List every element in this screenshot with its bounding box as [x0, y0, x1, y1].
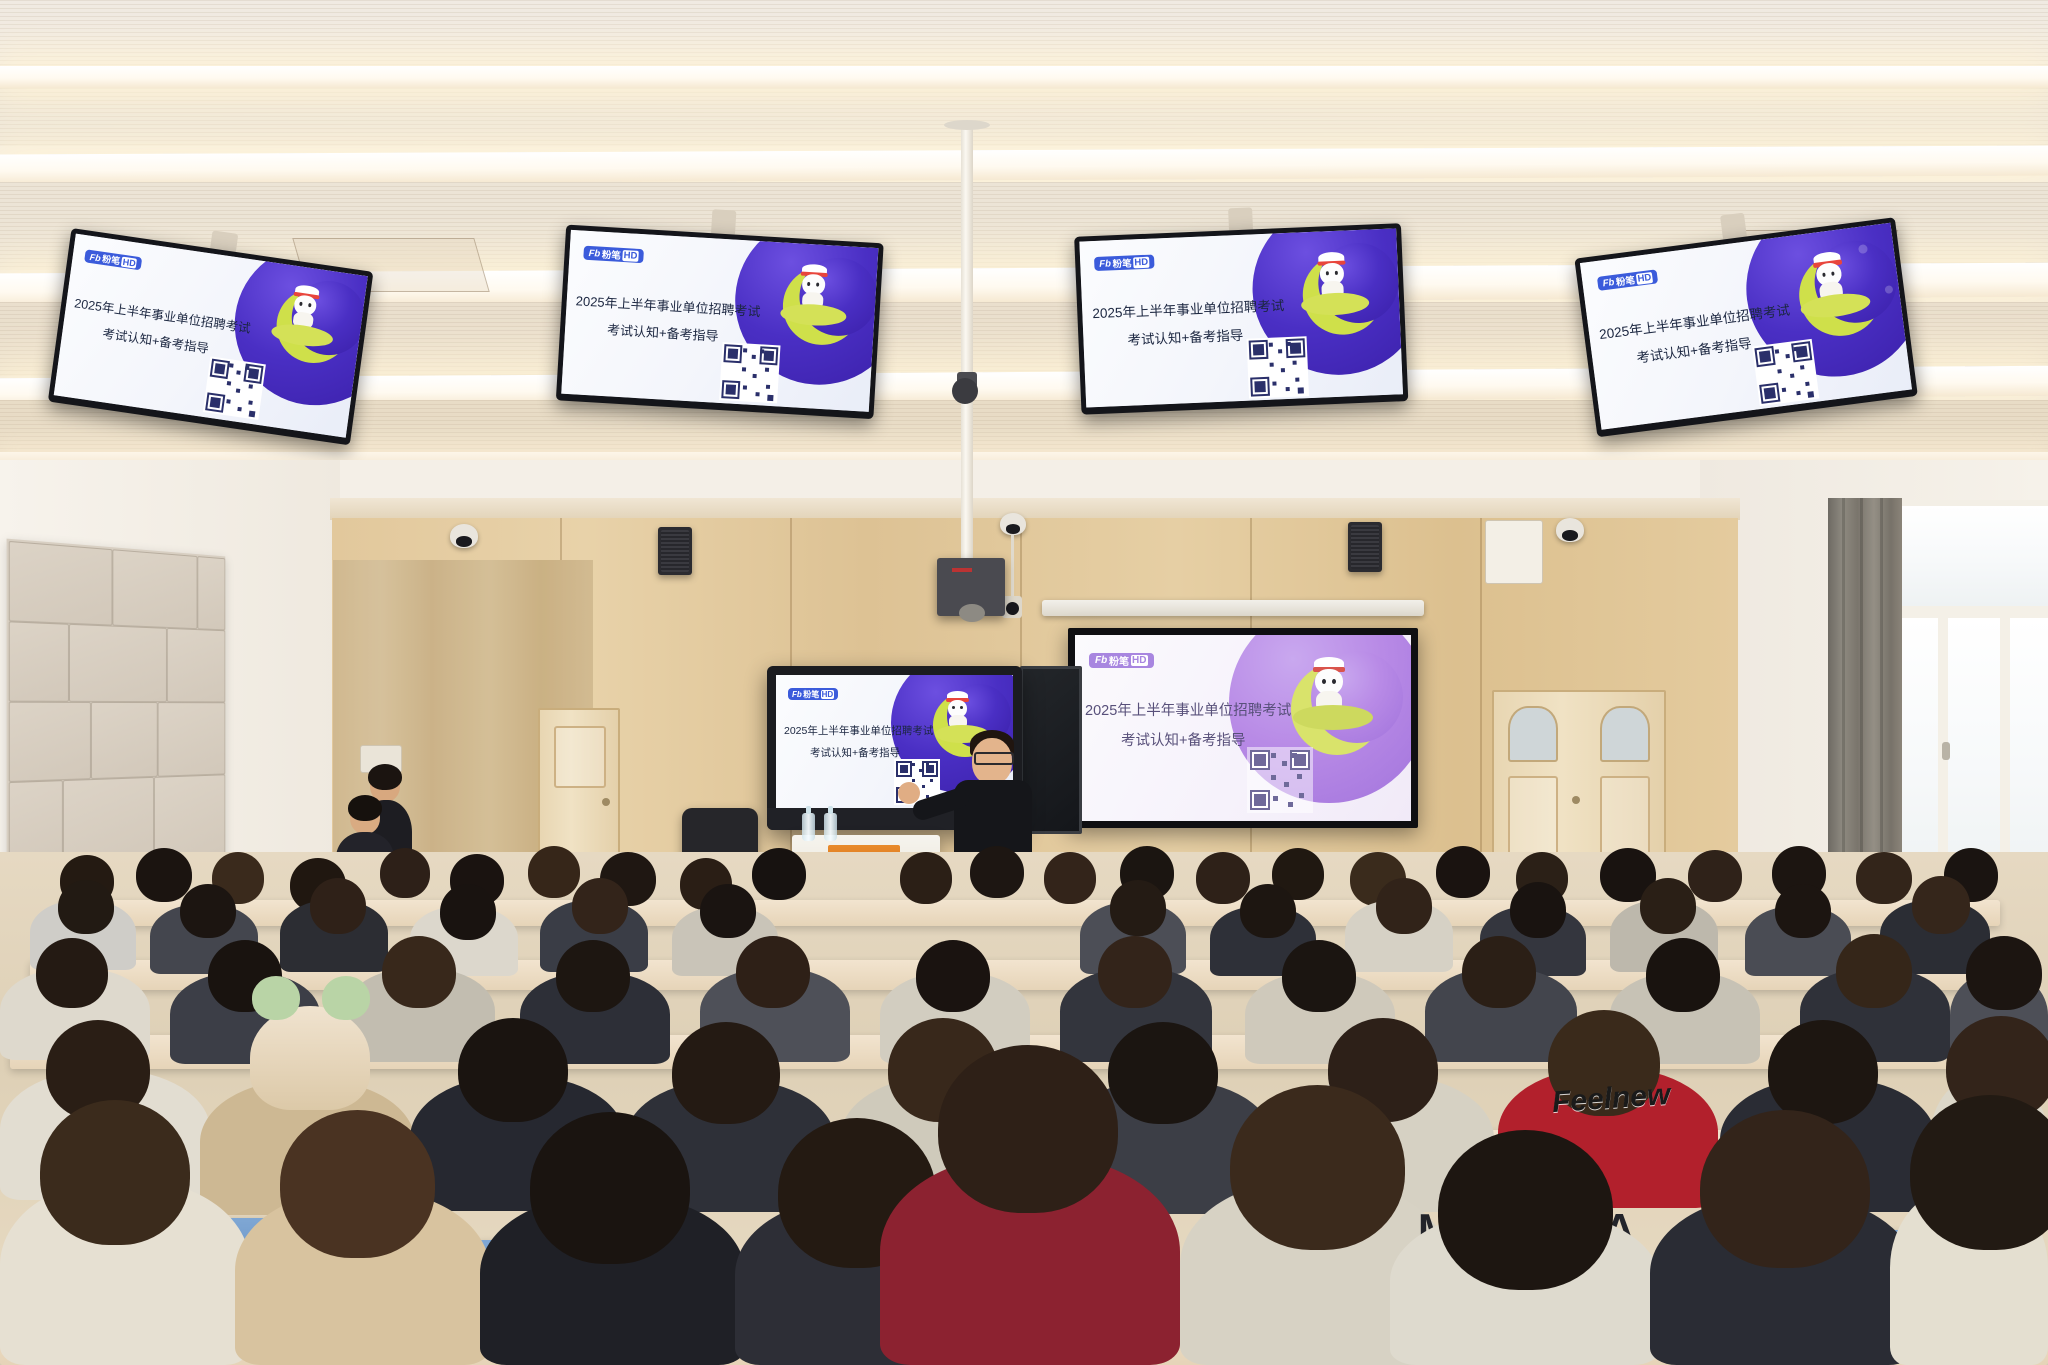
audience-head [736, 936, 810, 1008]
qr-finder-bl [721, 380, 740, 399]
audience-head [310, 878, 366, 934]
dome-camera-stem [1011, 534, 1014, 598]
audience-head [382, 936, 456, 1008]
qr-noise [1805, 382, 1809, 386]
slide-3-logo: Fb 粉笔 HD [1094, 255, 1155, 272]
qr-noise [912, 779, 915, 782]
slide-4-title-line2: 考试认知+备考指导 [1635, 332, 1753, 367]
slide-3-qr [1247, 336, 1309, 398]
qr-noise [227, 381, 232, 386]
qr-finder-tl [896, 761, 912, 777]
ceiling-texture-1 [0, 0, 2048, 70]
qr-noise [245, 366, 250, 371]
slide-2-title-line2: 考试认知+备考指导 [607, 319, 720, 345]
audience-head [458, 1018, 568, 1122]
acoustic-panel [7, 539, 226, 878]
audience-head [1640, 878, 1696, 934]
logo-hd-badge: HD [121, 256, 137, 268]
qr-noise [1298, 387, 1304, 393]
panel-title-line2: 考试认知+备考指导 [810, 745, 900, 760]
wood-seam [1480, 518, 1482, 863]
acoustic-brick [197, 556, 225, 630]
qr-noise [926, 763, 929, 766]
window-mullion-horizontal [1886, 606, 2048, 618]
acoustic-brick [9, 541, 113, 626]
right-door-knob[interactable] [1572, 796, 1580, 804]
qr-noise [1281, 368, 1285, 372]
cctv-camera-left [450, 524, 478, 548]
qr-finder-tl [1250, 750, 1270, 770]
front-wall-cornice [330, 498, 1740, 520]
overhead-monitor-2: Fb 粉笔 HD 2025年上半年事业单位招聘考试 考试认知+备考指导 [556, 225, 884, 420]
curtain-fold [1880, 498, 1883, 880]
cctv-camera-right [1556, 518, 1584, 542]
mascot-eye-left [952, 706, 955, 709]
logo-fb-text: Fb [89, 251, 101, 262]
audience-head [752, 848, 806, 900]
audience-head [1436, 846, 1490, 898]
qr-noise [1272, 382, 1276, 386]
presenter-hand [898, 782, 920, 804]
audience-head [58, 880, 114, 934]
qr-noise [1295, 378, 1299, 382]
right-door-panel-right [1600, 776, 1650, 856]
window-pane-bottom-mid [1948, 618, 2000, 886]
slide-3-title-line2: 考试认知+备考指导 [1127, 324, 1244, 349]
qr-finder-tl [723, 344, 742, 363]
logo-fb-text: Fb [1095, 655, 1107, 666]
slide-1-qr [203, 356, 266, 420]
window-pane-bottom-right [2010, 618, 2048, 886]
mascot-eye-right [1332, 679, 1336, 684]
slide-1-title-line1: 2025年上半年事业单位招聘考试 [73, 292, 252, 336]
right-door-window-left [1508, 706, 1558, 762]
audience-head [380, 848, 430, 898]
logo-hd-badge: HD [622, 249, 639, 261]
wall-cabinet [1485, 520, 1543, 584]
mascot-eye-right [960, 706, 963, 709]
window-latch-handle[interactable] [1942, 742, 1950, 760]
qr-noise [1293, 361, 1297, 365]
qr-finder-tr [922, 761, 938, 777]
panel-logo: Fb 粉笔 HD [788, 688, 838, 700]
qr-noise [1287, 342, 1291, 346]
projector-lens [959, 604, 985, 622]
qr-noise [1299, 793, 1304, 798]
monitor-3-screen: Fb 粉笔 HD 2025年上半年事业单位招聘考试 考试认知+备考指导 [1079, 228, 1403, 407]
projection-screen-roller [1042, 600, 1424, 616]
dome-camera-center [1000, 513, 1026, 535]
audience-head [528, 846, 580, 898]
audience-head [572, 878, 628, 934]
qr-noise [1270, 363, 1274, 367]
staff-1-hair [368, 764, 402, 790]
audience-head [36, 938, 108, 1008]
slide-projection: Fb 粉笔 HD 2025年上半年事业单位招聘考试 考试认知+备考指导 [1075, 635, 1411, 821]
projection-cloud [1293, 705, 1373, 730]
qr-finder-bl [1250, 377, 1270, 397]
audience-head [1966, 936, 2042, 1010]
left-door-knob[interactable] [602, 798, 610, 806]
qr-noise [767, 395, 773, 401]
qr-noise [1288, 802, 1293, 807]
left-door-panel [554, 726, 606, 788]
acoustic-brick [9, 621, 69, 702]
qr-finder-bl [205, 392, 225, 412]
acoustic-brick [9, 702, 91, 782]
audience-head [1646, 938, 1720, 1012]
audience-head [1110, 880, 1166, 936]
mascot-eye-right [1335, 271, 1338, 275]
qr-noise [765, 368, 769, 372]
slide-2-qr [719, 342, 780, 403]
qr-noise [1807, 391, 1814, 398]
audience-head [1108, 1022, 1218, 1124]
audience-head [1836, 934, 1912, 1008]
logo-fb-text: Fb [588, 247, 600, 259]
qr-noise [912, 763, 915, 766]
qr-noise [753, 374, 757, 378]
qr-noise [226, 399, 231, 404]
logo-cn-text: 粉笔 [101, 252, 121, 267]
logo-cn-text: 粉笔 [602, 247, 622, 262]
right-double-door[interactable] [1492, 690, 1666, 874]
audience-head [900, 852, 952, 904]
qr-noise [1286, 387, 1290, 391]
audience-head [1775, 884, 1831, 938]
acoustic-brick [69, 624, 167, 702]
qr-noise [236, 388, 241, 393]
qr-noise [229, 363, 234, 368]
audience-head [556, 940, 630, 1012]
audience-head [1462, 936, 1536, 1008]
qr-noise [755, 392, 759, 396]
window-curtain[interactable] [1828, 498, 1902, 880]
audience-head-foreground [1438, 1130, 1613, 1290]
qr-noise [743, 348, 747, 352]
projection-logo: Fb 粉笔 HD [1089, 653, 1154, 668]
presenter-glasses [974, 752, 1014, 765]
qr-finder-bl [1250, 790, 1270, 810]
audience-head [1240, 884, 1296, 938]
audience-head-foreground [1700, 1110, 1870, 1268]
qr-noise [1269, 343, 1273, 347]
mascot-eye-left [1326, 271, 1329, 275]
logo-hd-badge: HD [1133, 256, 1149, 268]
window-pane-top [1886, 506, 2048, 606]
logo-cn-text: 粉笔 [803, 689, 819, 700]
mascot-eye-left [1322, 679, 1326, 684]
wall-speaker-right [1348, 522, 1382, 572]
audience-ear-puff-right [322, 976, 370, 1020]
acoustic-brick [158, 702, 226, 777]
curtain-fold [1860, 498, 1863, 880]
ceiling-texture-2 [0, 88, 2048, 146]
audience-head [672, 1022, 780, 1124]
qr-noise [248, 384, 253, 389]
cove-light-1 [0, 66, 2048, 88]
audience-head-foreground [530, 1112, 690, 1264]
projector-pole [961, 128, 973, 590]
projector-pole-ball [952, 378, 978, 404]
water-bottle-2[interactable] [824, 813, 837, 841]
logo-cn-text: 粉笔 [1615, 272, 1636, 288]
qr-noise [1785, 354, 1789, 358]
window-mullion-vertical-2 [2000, 618, 2010, 886]
audience-head [1376, 878, 1432, 934]
audience-head [970, 846, 1024, 898]
audience-head [916, 940, 990, 1012]
logo-fb-text: Fb [1099, 258, 1111, 269]
curtain-fold [1842, 498, 1845, 880]
audience-ear-puff-left [252, 976, 300, 1020]
qr-noise [236, 370, 241, 375]
overhead-monitor-3: Fb 粉笔 HD 2025年上半年事业单位招聘考试 考试认知+备考指导 [1074, 223, 1408, 415]
right-door-window-right [1600, 706, 1650, 762]
slide-3-title-line1: 2025年上半年事业单位招聘考试 [1092, 294, 1285, 322]
right-door-panel-left [1508, 776, 1558, 856]
qr-noise [1273, 796, 1278, 801]
projection-qr [1247, 747, 1313, 813]
projection-screen-canvas: Fb 粉笔 HD 2025年上半年事业单位招聘考试 考试认知+备考指导 [1075, 635, 1411, 821]
projection-screen: Fb 粉笔 HD 2025年上半年事业单位招聘考试 考试认知+备考指导 [1068, 628, 1418, 828]
audience-head-foreground [938, 1045, 1118, 1213]
logo-cn-text: 粉笔 [1109, 653, 1129, 668]
audience-head-foreground [40, 1100, 190, 1245]
qr-noise [1790, 373, 1794, 377]
qr-noise [1292, 753, 1297, 758]
audience-beanie-hat [250, 1006, 370, 1110]
qr-noise [922, 785, 925, 788]
qr-noise [1282, 761, 1287, 766]
logo-cn-text: 粉笔 [1112, 255, 1132, 270]
qr-noise [1775, 349, 1779, 353]
audience-head [440, 884, 496, 940]
qr-noise [1794, 347, 1798, 351]
slide-2: Fb 粉笔 HD 2025年上半年事业单位招聘考试 考试认知+备考指导 [561, 230, 878, 412]
right-window [1880, 500, 2048, 892]
slide-2-logo: Fb 粉笔 HD [583, 246, 644, 264]
audience-head [1098, 936, 1172, 1008]
qr-noise [1777, 369, 1781, 373]
qr-noise [766, 385, 770, 389]
logo-fb-text: Fb [792, 690, 802, 699]
qr-noise [1800, 365, 1804, 369]
audience-head [180, 884, 236, 938]
qr-noise [1782, 388, 1786, 392]
acoustic-brick [91, 702, 158, 779]
lecture-hall-photo: Fb 粉笔 HD 2025年上半年事业单位招聘考试 考试认知+备考指导 [0, 0, 2048, 1365]
projection-title-line1: 2025年上半年事业单位招聘考试 [1085, 699, 1291, 720]
projector-ceiling-plate [944, 120, 990, 130]
projection-title-line2: 考试认知+备考指导 [1121, 729, 1245, 750]
audience-head [1856, 852, 1912, 904]
audience-head [1044, 852, 1096, 904]
qr-noise [752, 355, 756, 359]
audience-head [1688, 850, 1742, 902]
acoustic-brick [112, 549, 197, 629]
staff-2-hair [348, 795, 382, 821]
logo-hd-badge: HD [821, 690, 834, 699]
logo-hd-badge: HD [1131, 655, 1148, 666]
qr-finder-tl [1754, 346, 1775, 367]
qr-noise [919, 769, 922, 772]
qr-noise [760, 349, 764, 353]
audience-head-foreground [280, 1110, 435, 1258]
audience-head-foreground [1230, 1085, 1405, 1250]
acoustic-brick [167, 628, 225, 702]
qr-noise [1297, 774, 1302, 779]
audience-head [1282, 940, 1356, 1012]
qr-noise [742, 367, 746, 371]
qr-finder-bl [1759, 383, 1780, 404]
dome-camera-lens [1006, 602, 1019, 615]
qr-noise [237, 407, 242, 412]
audience-head [136, 848, 192, 902]
qr-noise [1796, 391, 1800, 395]
qr-noise [743, 385, 747, 389]
logo-fb-text: Fb [1602, 276, 1615, 288]
qr-noise [1271, 753, 1276, 758]
audience-head [1510, 882, 1566, 938]
monitor-2-screen: Fb 粉笔 HD 2025年上半年事业单位招聘考试 考试认知+备考指导 [561, 230, 878, 412]
ceiling-projector [937, 558, 1005, 616]
audience-head [700, 884, 756, 938]
panel-title-line1: 2025年上半年事业单位招聘考试 [784, 723, 933, 738]
wall-speaker-left [658, 527, 692, 575]
qr-noise [1284, 782, 1289, 787]
audience-head [1196, 852, 1250, 904]
qr-finder-tl [210, 359, 230, 379]
slide-4-logo: Fb 粉笔 HD [1597, 269, 1658, 291]
slide-3: Fb 粉笔 HD 2025年上半年事业单位招聘考试 考试认知+备考指导 [1079, 228, 1403, 407]
logo-hd-badge: HD [1636, 271, 1653, 284]
projector-indicator [952, 568, 972, 572]
qr-noise [248, 400, 253, 405]
slide-4-qr [1752, 339, 1819, 406]
audience-head [1912, 876, 1970, 934]
presenter [940, 730, 1050, 860]
qr-finder-tr [1791, 341, 1812, 362]
qr-noise [930, 779, 933, 782]
audience-head [1768, 1020, 1878, 1124]
qr-noise [1271, 775, 1276, 780]
slide-1-logo: Fb 粉笔 HD [84, 249, 143, 270]
qr-noise [1278, 349, 1282, 353]
qr-finder-tl [1249, 340, 1269, 360]
water-bottle-1[interactable] [802, 813, 815, 841]
slide-2-title-line1: 2025年上半年事业单位招聘考试 [575, 290, 761, 320]
qr-noise [249, 411, 256, 418]
